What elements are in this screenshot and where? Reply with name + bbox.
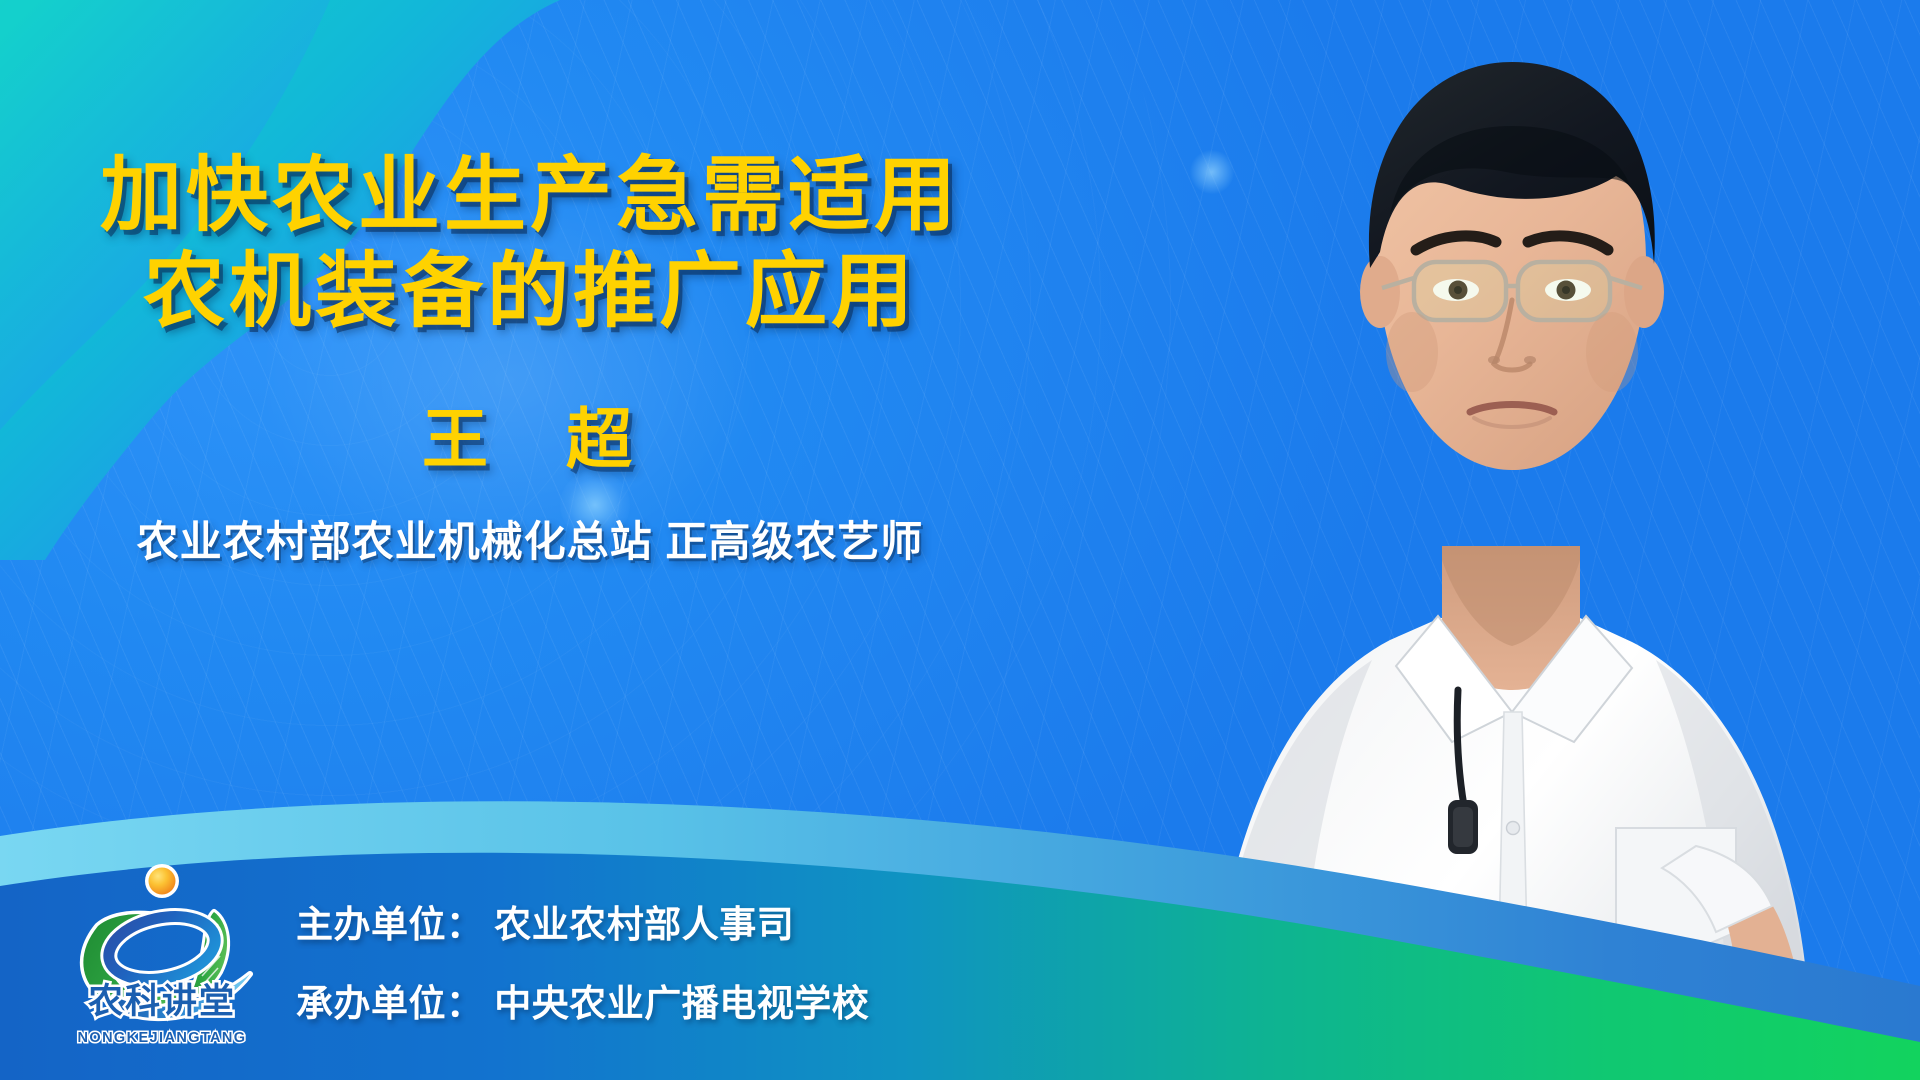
lecture-title-line-1: 加快农业生产急需适用 — [0, 148, 1060, 244]
credits-block: 主办单位： 农业农村部人事司 承办单位： 中央农业广播电视学校 — [296, 906, 1196, 1022]
logo-name-pinyin: NONGKEJIANGTANG — [62, 1030, 262, 1046]
nongke-jiangtang-logo: 农科讲堂 NONGKEJIANGTANG — [62, 856, 262, 1052]
title-block: 加快农业生产急需适用 农机装备的推广应用 王 超 农业农村部农业机械化总站 正高… — [0, 148, 1060, 569]
logo-sun-icon — [149, 868, 176, 895]
lecture-title-line-2: 农机装备的推广应用 — [0, 244, 1060, 340]
logo-name-cn: 农科讲堂 — [62, 973, 262, 1024]
title-card-slide: 加快农业生产急需适用 农机装备的推广应用 王 超 农业农村部农业机械化总站 正高… — [0, 0, 1920, 1080]
credit-executor: 承办单位： 中央农业广播电视学校 — [296, 985, 1196, 1022]
credit-organizer: 主办单位： 农业农村部人事司 — [296, 906, 1196, 943]
speaker-affiliation: 农业农村部农业机械化总站 正高级农艺师 — [0, 508, 1060, 569]
speaker-name: 王 超 — [0, 386, 1060, 482]
